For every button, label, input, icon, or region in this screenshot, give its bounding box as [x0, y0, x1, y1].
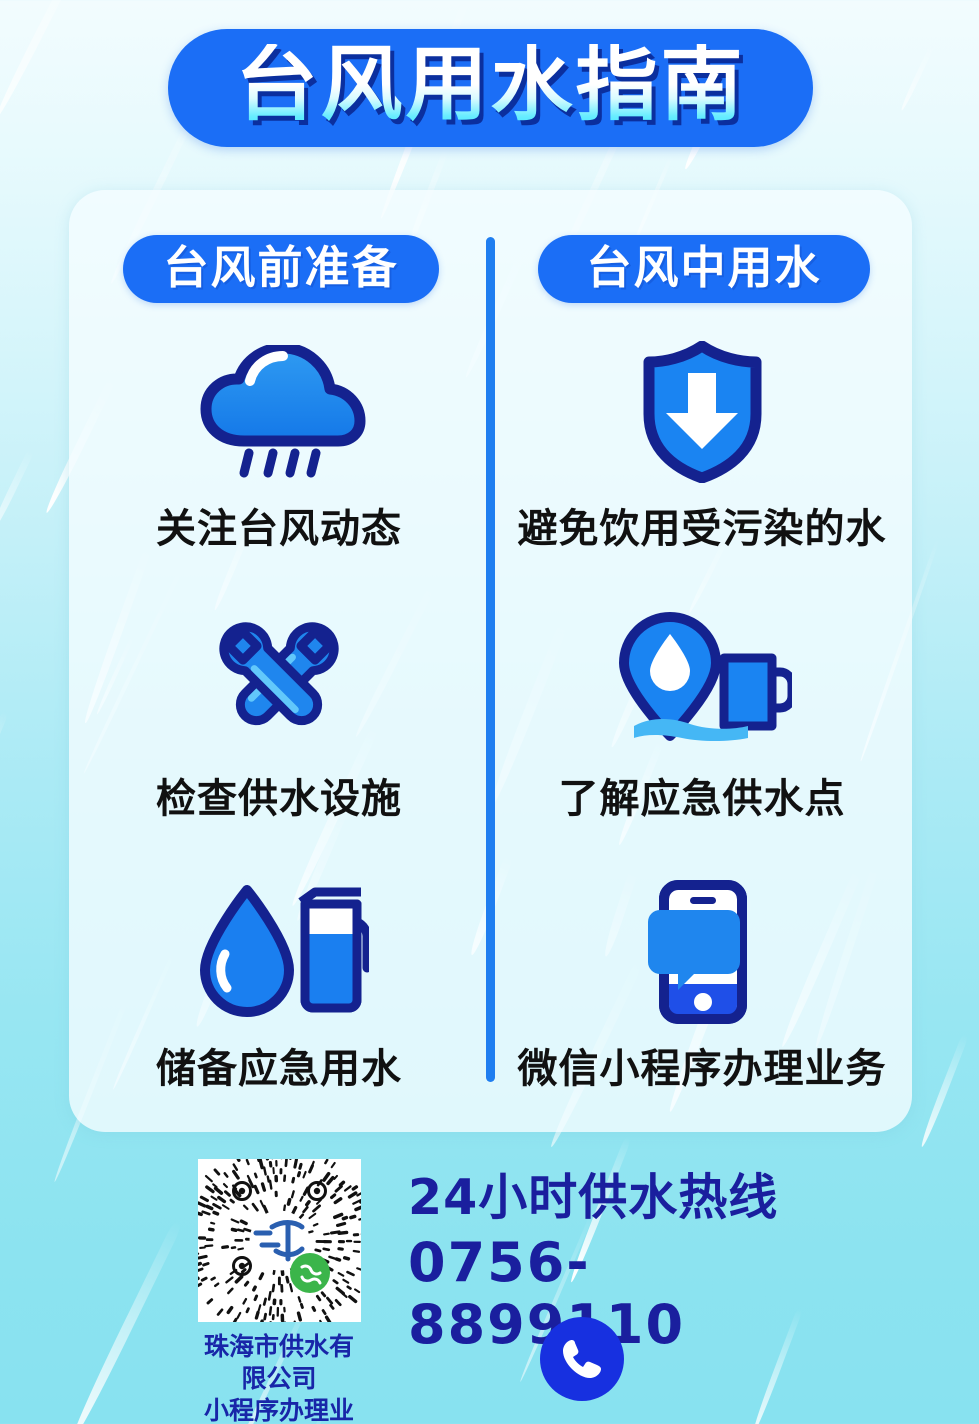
water-drop-pitcher-icon	[189, 878, 369, 1026]
hotline-title: 24小时供水热线	[408, 1170, 828, 1226]
list-item[interactable]: 避免饮用受污染的水	[492, 338, 912, 554]
list-item-label: 检查供水设施	[156, 766, 402, 824]
qr-caption: 珠海市供水有限公司 小程序办理业务	[193, 1331, 365, 1424]
poster-root: 台风用水指南 台风前准备	[0, 0, 979, 1424]
qr-caption-line2: 小程序办理业务	[193, 1395, 365, 1424]
list-item[interactable]: 检查供水设施	[69, 608, 489, 824]
poster-title: 台风用水指南	[235, 44, 745, 132]
qr-caption-line1: 珠海市供水有限公司	[193, 1331, 365, 1395]
list-item[interactable]: 微信小程序办理业务	[492, 878, 912, 1094]
section-heading-pill-left: 台风前准备	[123, 235, 439, 303]
section-during-typhoon: 台风中用水 避免饮用受污染的水	[492, 190, 912, 1132]
qr-block[interactable]: 珠海市供水有限公司 小程序办理业务	[193, 1159, 365, 1424]
shield-down-arrow-icon	[640, 338, 765, 486]
section-before-typhoon: 台风前准备	[69, 190, 489, 1132]
phone-chat-bubble-icon	[642, 878, 762, 1026]
phone-handset-icon[interactable]	[540, 1317, 624, 1401]
list-item-label: 了解应急供水点	[559, 766, 846, 824]
section-heading-pill-right: 台风中用水	[538, 235, 870, 303]
list-item[interactable]: 储备应急用水	[69, 878, 489, 1094]
crossed-wrenches-icon	[197, 608, 362, 756]
list-item-label: 储备应急用水	[156, 1036, 402, 1094]
location-pin-mug-icon	[612, 608, 792, 756]
column-divider	[486, 237, 495, 1082]
rain-cloud-icon	[192, 338, 367, 486]
list-item-label: 微信小程序办理业务	[518, 1036, 887, 1094]
section-heading-label-right: 台风中用水	[586, 245, 821, 293]
poster-title-banner: 台风用水指南	[168, 29, 813, 147]
hotline-block: 24小时供水热线 0756-8899110	[408, 1170, 828, 1357]
list-item-label: 关注台风动态	[156, 496, 402, 554]
list-item[interactable]: 了解应急供水点	[492, 608, 912, 824]
section-heading-label-left: 台风前准备	[163, 245, 398, 293]
wechat-miniprogram-qr-code[interactable]	[198, 1159, 361, 1322]
list-item[interactable]: 关注台风动态	[69, 338, 489, 554]
list-item-label: 避免饮用受污染的水	[518, 496, 887, 554]
